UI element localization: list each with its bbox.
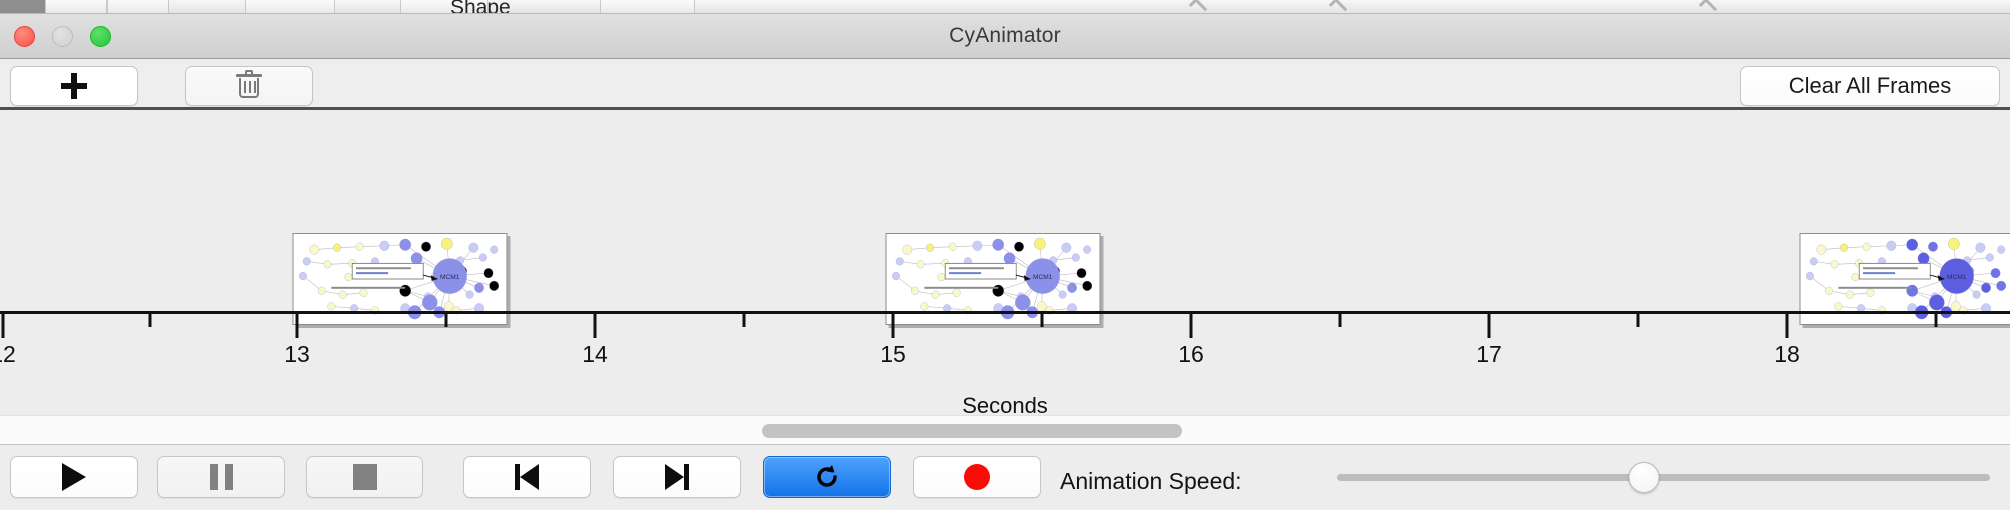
playback-toolbar: Animation Speed: bbox=[0, 446, 2010, 510]
chevron-icon bbox=[1329, 0, 1347, 14]
record-button[interactable] bbox=[913, 456, 1041, 498]
axis-tick bbox=[1935, 314, 1938, 327]
trash-icon bbox=[238, 73, 260, 99]
svg-text:MCM1: MCM1 bbox=[1033, 274, 1053, 281]
delete-frame-button[interactable] bbox=[185, 66, 313, 106]
axis-tick-label: 15 bbox=[880, 341, 906, 368]
axis-tick bbox=[1637, 314, 1640, 327]
timeline-axis-line bbox=[0, 311, 2010, 314]
axis-tick bbox=[149, 314, 152, 327]
bg-dark-block bbox=[0, 0, 45, 13]
toolbar: Clear All Frames bbox=[0, 60, 2010, 110]
axis-tick-label: 12 bbox=[0, 341, 16, 368]
axis-tick bbox=[296, 314, 299, 338]
axis-tick-label: 18 bbox=[1774, 341, 1800, 368]
skip-forward-icon bbox=[663, 464, 691, 490]
previous-button[interactable] bbox=[463, 456, 591, 498]
bg-tab bbox=[45, 0, 107, 14]
play-button[interactable] bbox=[10, 456, 138, 498]
stop-icon bbox=[353, 464, 377, 490]
chevron-icon bbox=[1699, 0, 1717, 14]
stop-button bbox=[306, 456, 423, 498]
svg-text:MCM1: MCM1 bbox=[440, 274, 460, 281]
axis-tick bbox=[1488, 314, 1491, 338]
window-titlebar: CyAnimator bbox=[0, 14, 2010, 59]
chevron-icon bbox=[1189, 0, 1207, 14]
loop-icon bbox=[812, 462, 842, 492]
bg-tab bbox=[245, 0, 335, 14]
clear-all-frames-button[interactable]: Clear All Frames bbox=[1740, 66, 2000, 106]
axis-tick bbox=[445, 314, 448, 327]
record-icon bbox=[964, 464, 990, 490]
add-frame-button[interactable] bbox=[10, 66, 138, 106]
plus-icon bbox=[61, 73, 87, 99]
scrollbar-thumb[interactable] bbox=[762, 424, 1182, 438]
axis-tick-label: 16 bbox=[1178, 341, 1204, 368]
slider-track[interactable] bbox=[1337, 474, 1990, 481]
bg-tab bbox=[600, 0, 695, 14]
axis-tick bbox=[1786, 314, 1789, 338]
axis-tick bbox=[2, 314, 5, 338]
timeline-panel[interactable]: MCM1MCM1MCM1 12131415161718 Seconds bbox=[0, 113, 2010, 415]
animation-speed-label: Animation Speed: bbox=[1060, 468, 1242, 495]
axis-tick bbox=[1041, 314, 1044, 327]
axis-title-label: Seconds bbox=[0, 393, 2010, 415]
animation-speed-slider[interactable] bbox=[1337, 456, 1990, 498]
pause-icon bbox=[210, 464, 233, 490]
background-window-strip: Shape bbox=[0, 0, 2010, 14]
window-title: CyAnimator bbox=[0, 24, 2010, 48]
axis-tick bbox=[1339, 314, 1342, 327]
horizontal-scrollbar[interactable] bbox=[0, 415, 2010, 445]
play-icon bbox=[62, 463, 86, 491]
axis-tick-label: 17 bbox=[1476, 341, 1502, 368]
bg-tab bbox=[107, 0, 169, 14]
axis-tick bbox=[1190, 314, 1193, 338]
pause-button bbox=[157, 456, 285, 498]
slider-knob[interactable] bbox=[1628, 462, 1659, 493]
axis-tick bbox=[594, 314, 597, 338]
loop-button[interactable] bbox=[763, 456, 891, 498]
next-button[interactable] bbox=[613, 456, 741, 498]
svg-text:MCM1: MCM1 bbox=[1947, 274, 1967, 281]
axis-tick-label: 13 bbox=[284, 341, 310, 368]
axis-tick bbox=[892, 314, 895, 338]
bg-window-label: Shape bbox=[450, 0, 511, 14]
axis-tick-label: 14 bbox=[582, 341, 608, 368]
skip-back-icon bbox=[513, 464, 541, 490]
axis-tick bbox=[743, 314, 746, 327]
